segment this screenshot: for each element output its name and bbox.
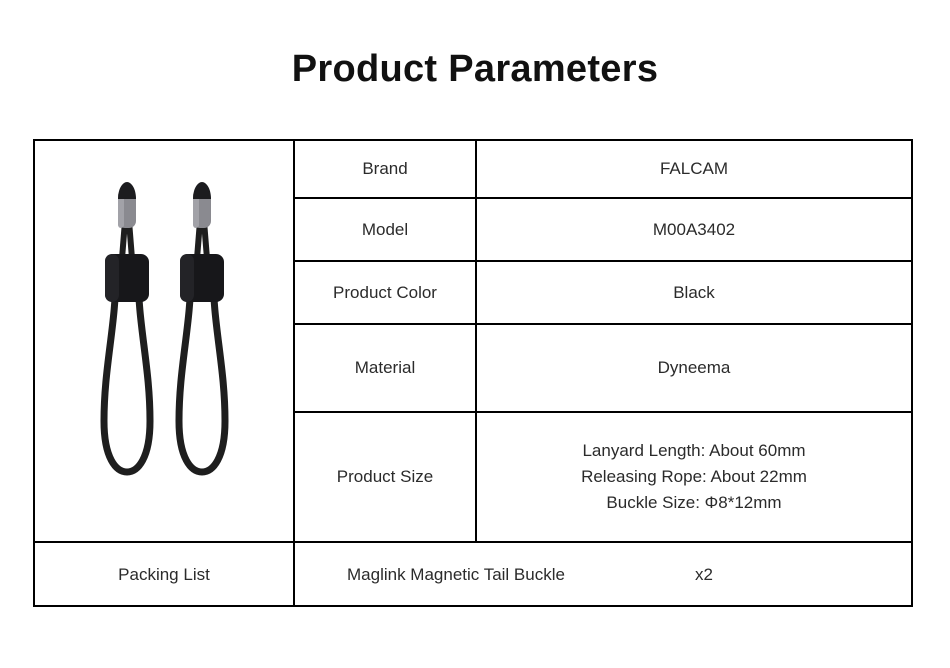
row-label-product-size: Product Size: [295, 413, 477, 541]
row-label-product-color: Product Color: [295, 262, 477, 323]
table-row: Model M00A3402: [295, 199, 911, 262]
row-value-material: Dyneema: [477, 325, 911, 411]
value-line: Buckle Size: Φ8*12mm: [606, 490, 781, 516]
page-title: Product Parameters: [0, 46, 950, 92]
row-label-material: Material: [295, 325, 477, 411]
row-value-model: M00A3402: [477, 199, 911, 260]
row-label-packing-list: Packing List: [35, 543, 295, 607]
value-line: FALCAM: [660, 156, 728, 182]
packing-item-quantity: x2: [695, 565, 713, 585]
value-line: Releasing Rope: About 22mm: [581, 464, 807, 490]
product-image-cell: [35, 141, 295, 541]
row-value-packing-list: Maglink Magnetic Tail Buckle x2: [295, 543, 911, 607]
product-parameters-table: Brand FALCAM Model M00A3402 Product Colo…: [33, 139, 913, 607]
lanyard-right: [179, 182, 225, 472]
packing-item-name: Maglink Magnetic Tail Buckle: [347, 565, 565, 585]
row-value-product-color: Black: [477, 262, 911, 323]
value-line: Lanyard Length: About 60mm: [582, 438, 805, 464]
row-value-product-size: Lanyard Length: About 60mm Releasing Rop…: [477, 413, 911, 541]
row-label-model: Model: [295, 199, 477, 260]
table-row: Product Color Black: [295, 262, 911, 325]
value-line: M00A3402: [653, 217, 735, 243]
table-row: Material Dyneema: [295, 325, 911, 413]
value-line: Black: [673, 280, 715, 306]
row-label-brand: Brand: [295, 141, 477, 197]
table-body: Brand FALCAM Model M00A3402 Product Colo…: [35, 141, 911, 541]
table-row: Product Size Lanyard Length: About 60mm …: [295, 413, 911, 541]
table-row-packing-list: Packing List Maglink Magnetic Tail Buckl…: [35, 541, 911, 607]
table-row: Brand FALCAM: [295, 141, 911, 199]
lanyard-left: [104, 182, 150, 472]
row-value-brand: FALCAM: [477, 141, 911, 197]
spec-rows: Brand FALCAM Model M00A3402 Product Colo…: [295, 141, 911, 541]
value-line: Dyneema: [658, 355, 731, 381]
product-image: [74, 176, 254, 506]
